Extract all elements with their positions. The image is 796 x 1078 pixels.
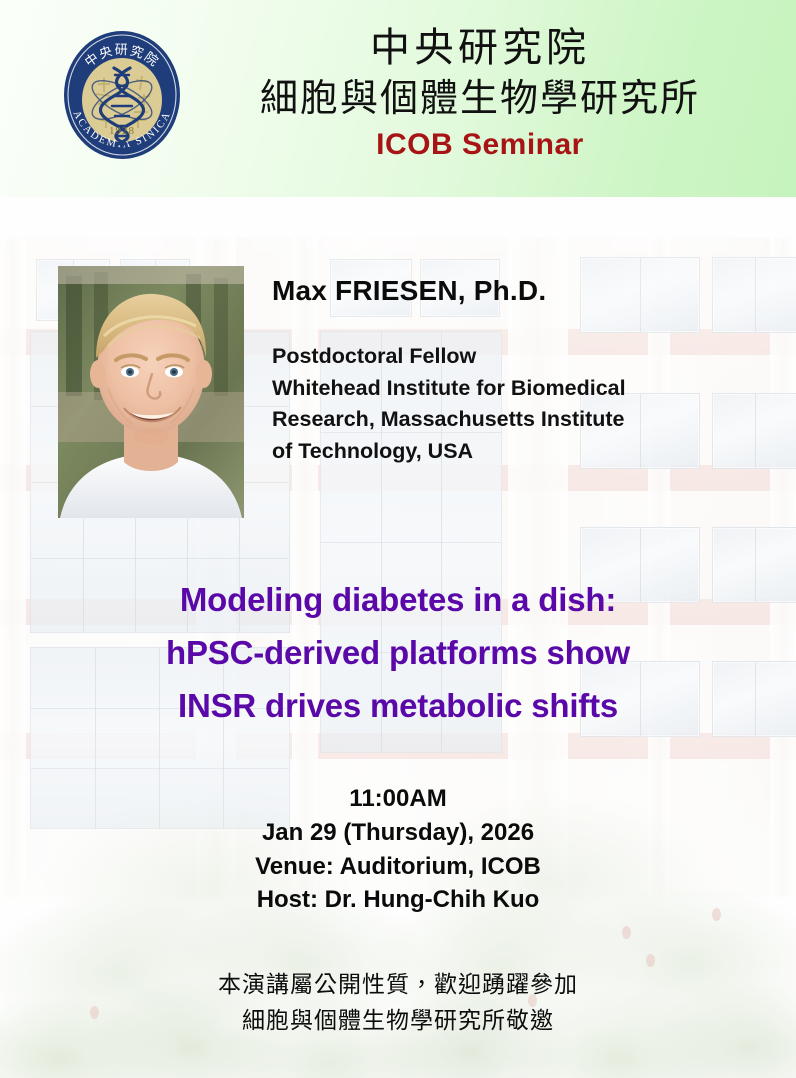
event-host: Host: Dr. Hung-Chih Kuo xyxy=(0,883,796,917)
seminar-label: ICOB Seminar xyxy=(200,128,760,162)
talk-title-line-1: Modeling diabetes in a dish: xyxy=(0,574,796,627)
speaker-affiliation-line-2: Whitehead Institute for Biomedical xyxy=(272,373,772,405)
talk-title-line-3: INSR drives metabolic shifts xyxy=(0,680,796,733)
speaker-name: Max FRIESEN, Ph.D. xyxy=(272,275,772,307)
footer-invitation: 本演講屬公開性質，歡迎踴躍參加 細胞與個體生物學研究所敬邀 xyxy=(0,968,796,1039)
institution-line-1: 中央研究院 xyxy=(200,22,760,74)
academia-sinica-logo-icon: 中央研究院 ACADEMIA SINICA xyxy=(60,28,184,162)
footer-line-1: 本演講屬公開性質，歡迎踴躍參加 xyxy=(0,968,796,1004)
event-date: Jan 29 (Thursday), 2026 xyxy=(0,816,796,850)
logo-year-text: 1928 xyxy=(109,125,135,137)
speaker-info: Max FRIESEN, Ph.D. Postdoctoral Fellow W… xyxy=(272,275,772,467)
poster-header: 中央研究院 ACADEMIA SINICA xyxy=(0,0,796,197)
footer-line-2: 細胞與個體生物學研究所敬邀 xyxy=(0,1004,796,1040)
event-details: 11:00AM Jan 29 (Thursday), 2026 Venue: A… xyxy=(0,782,796,917)
speaker-affiliation-line-4: of Technology, USA xyxy=(272,436,772,468)
institution-line-2: 細胞與個體生物學研究所 xyxy=(200,74,760,123)
seminar-poster: 中央研究院 ACADEMIA SINICA xyxy=(0,0,796,1078)
header-institution-text: 中央研究院 細胞與個體生物學研究所 ICOB Seminar xyxy=(200,22,760,162)
event-time: 11:00AM xyxy=(0,782,796,816)
speaker-portrait-photo xyxy=(58,266,244,518)
speaker-affiliation-line-1: Postdoctoral Fellow xyxy=(272,341,772,373)
talk-title-line-2: hPSC-derived platforms show xyxy=(0,627,796,680)
talk-title: Modeling diabetes in a dish: hPSC-derive… xyxy=(0,574,796,732)
speaker-affiliation-line-3: Research, Massachusetts Institute xyxy=(272,404,772,436)
event-venue: Venue: Auditorium, ICOB xyxy=(0,850,796,884)
